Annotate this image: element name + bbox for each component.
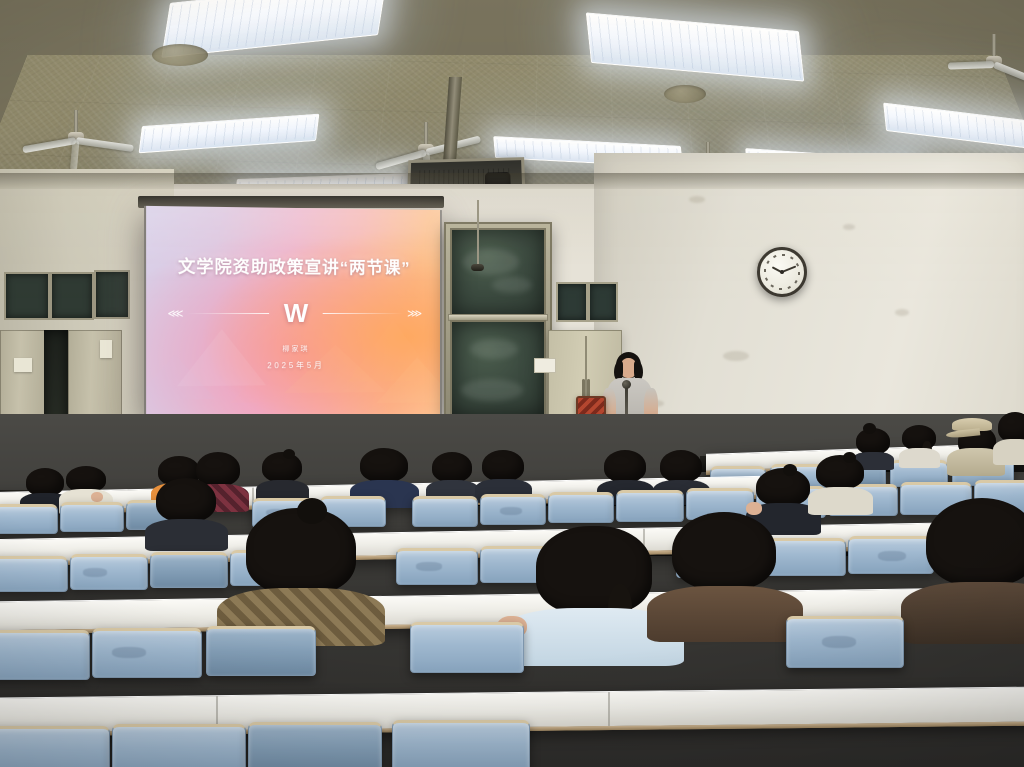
seat[interactable] <box>206 626 316 676</box>
seat[interactable] <box>60 502 124 532</box>
ceiling-speaker <box>664 85 706 103</box>
seat[interactable] <box>0 504 58 534</box>
slide-title: 文学院资助政策宣讲“两节课” <box>178 252 410 278</box>
cabinet-label-sign <box>534 358 556 373</box>
student <box>432 452 472 502</box>
seat[interactable] <box>112 724 246 767</box>
slide-date-line: 2025年5月 <box>267 360 324 371</box>
slide-content: 文学院资助政策宣讲“两节课” ⋘ W ⋙ 柳家琪 2025年5月 <box>146 206 440 418</box>
ceiling-fan <box>28 110 124 158</box>
left-transom-window <box>94 270 130 319</box>
blackboard-panel-lower <box>450 320 546 416</box>
wall-notice-paper <box>100 340 112 358</box>
cap-hat <box>952 418 992 437</box>
seat[interactable] <box>150 552 228 588</box>
divider-right <box>323 312 402 313</box>
ceiling-fan <box>948 34 1024 80</box>
slide-presenter-line: 柳家琪 <box>282 344 309 354</box>
seat[interactable] <box>248 722 382 767</box>
left-transom-window <box>50 272 94 320</box>
student-light-blue-top <box>536 526 652 666</box>
blackboard-mic-boom <box>470 200 484 272</box>
ceiling-speaker <box>152 44 208 66</box>
right-chevron-icon: ⋙ <box>407 307 420 320</box>
student <box>998 412 1024 464</box>
seat[interactable] <box>786 616 904 668</box>
student <box>816 455 864 513</box>
classroom-photo: 文学院资助政策宣讲“两节课” ⋘ W ⋙ 柳家琪 2025年5月 <box>0 0 1024 767</box>
microphone-head-icon <box>622 380 631 389</box>
student-beige-cap <box>954 418 998 474</box>
wall-notice-paper <box>14 358 32 372</box>
seat[interactable] <box>0 726 110 767</box>
student <box>262 452 302 502</box>
student <box>672 512 776 644</box>
seat[interactable] <box>480 494 546 525</box>
left-transom-window <box>4 272 50 320</box>
seat[interactable] <box>0 556 68 592</box>
seat[interactable] <box>848 536 934 574</box>
student <box>902 425 936 467</box>
seat[interactable] <box>410 622 524 673</box>
student <box>926 498 1024 646</box>
slide-divider-row: ⋘ W ⋙ <box>167 300 420 326</box>
blackboard-panel-upper <box>450 228 546 318</box>
seat[interactable] <box>396 548 478 585</box>
brand-w-logo: W <box>274 300 318 326</box>
seat[interactable] <box>392 720 530 767</box>
left-chevron-icon: ⋘ <box>167 306 181 319</box>
wall-ceiling-joint <box>0 173 1024 190</box>
seat[interactable] <box>0 630 90 680</box>
seat[interactable] <box>548 492 614 523</box>
projection-screen: 文学院资助政策宣讲“两节课” ⋘ W ⋙ 柳家琪 2025年5月 <box>144 206 442 418</box>
student-checked-jacket <box>246 508 356 644</box>
wall-clock <box>757 247 807 297</box>
blackboard-frame <box>444 222 552 422</box>
divider-left <box>187 313 269 314</box>
student <box>156 478 216 548</box>
seat[interactable] <box>412 496 478 527</box>
upper-window-right-pane <box>588 282 618 322</box>
clock-center-pin <box>780 270 784 274</box>
upper-window-left-pane <box>556 282 588 322</box>
seat[interactable] <box>70 554 148 590</box>
seat[interactable] <box>92 628 202 678</box>
